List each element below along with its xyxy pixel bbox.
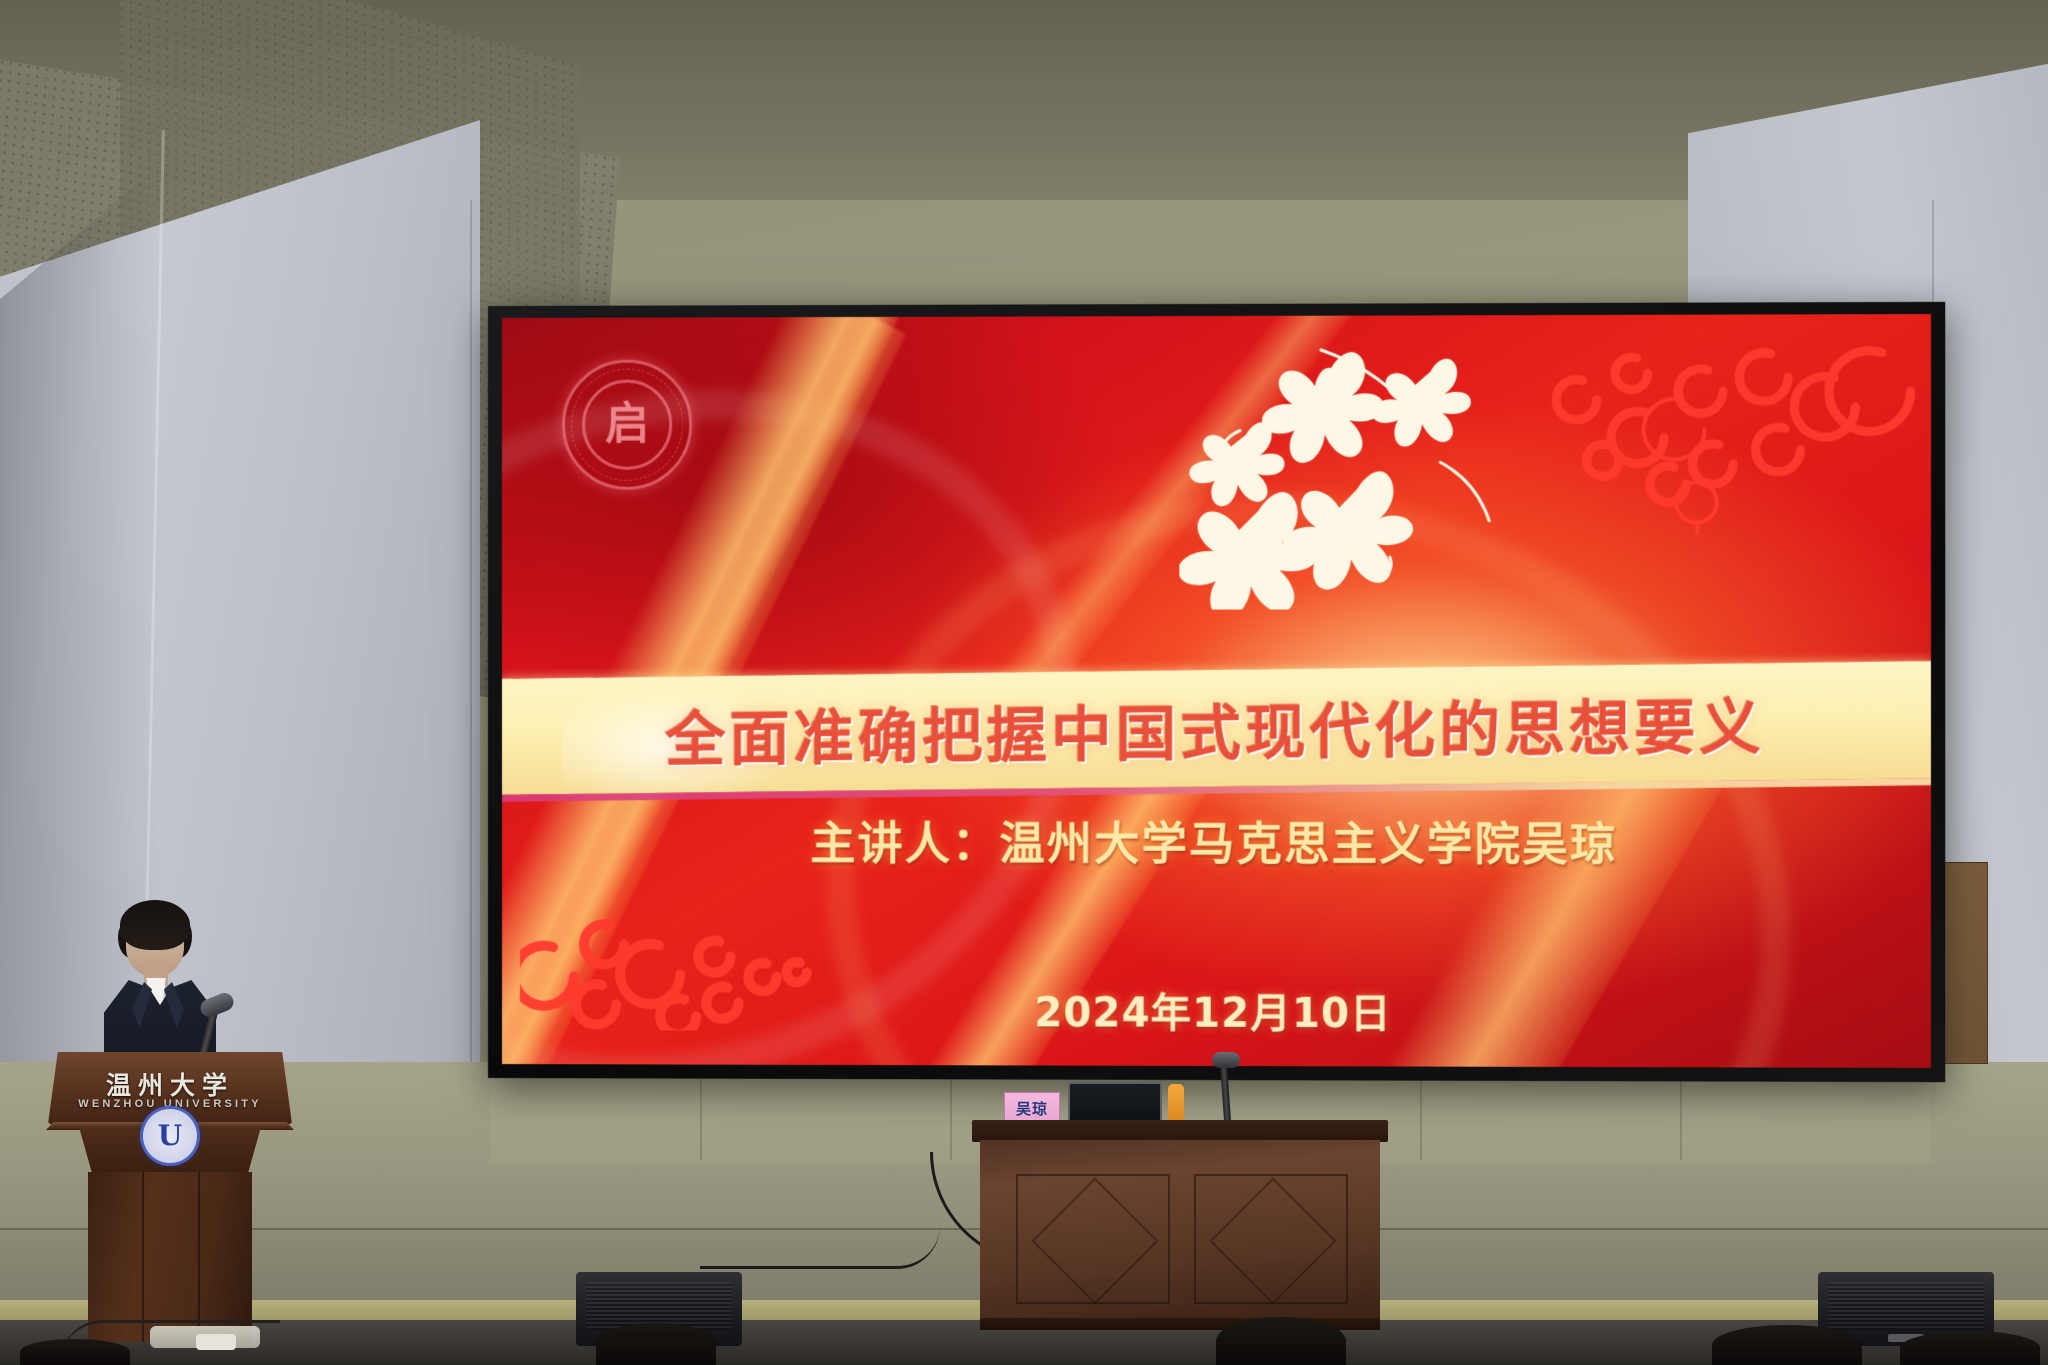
water-bottle-icon [1168,1084,1184,1124]
name-card-text: 吴琼 [1016,1098,1048,1119]
podium: 温州大学 WENZHOU UNIVERSITY U [62,1052,278,1342]
table-top [972,1120,1388,1142]
podium-seam [198,1172,200,1342]
slide-subtitle: 主讲人：温州大学马克思主义学院吴琼 [502,804,1931,876]
led-screen[interactable]: 启 [488,302,1945,1082]
table-skirt [980,1140,1380,1322]
floor-cable [700,1226,940,1269]
seal-ring [571,369,683,481]
screen-display-area: 启 [502,314,1931,1068]
audience-head [596,1323,716,1365]
audience-head [1216,1317,1346,1365]
presentation-table [980,1120,1380,1328]
table-panel-diamond [1209,1177,1336,1304]
cloud-spiral-icon [1534,332,1921,535]
speaker-grille [1828,1282,1984,1330]
floor-equipment [196,1334,236,1350]
wall-seam [470,200,472,1080]
podium-body [88,1172,252,1342]
audience-head [1900,1331,2040,1365]
slide-title: 全面准确把握中国式现代化的思想要义 [502,661,1931,795]
emblem-glyph: U [158,1122,182,1150]
podium-seam [142,1172,144,1342]
table-microphone-icon [1212,1052,1240,1068]
table-panel [1016,1174,1170,1304]
podium-name-cn: 温州大学 [48,1066,292,1102]
table-panel [1194,1174,1348,1304]
audience-head [20,1339,130,1365]
university-emblem-icon: U [140,1106,200,1166]
hair [120,900,190,950]
university-seal-icon: 启 [562,359,692,489]
slide-date: 2024年12月10日 [502,978,1931,1042]
table-panel-diamond [1031,1177,1158,1304]
audience-head [1712,1325,1862,1365]
lecture-hall-scene: 启 [0,0,2048,1365]
speaker-person [88,900,238,1070]
